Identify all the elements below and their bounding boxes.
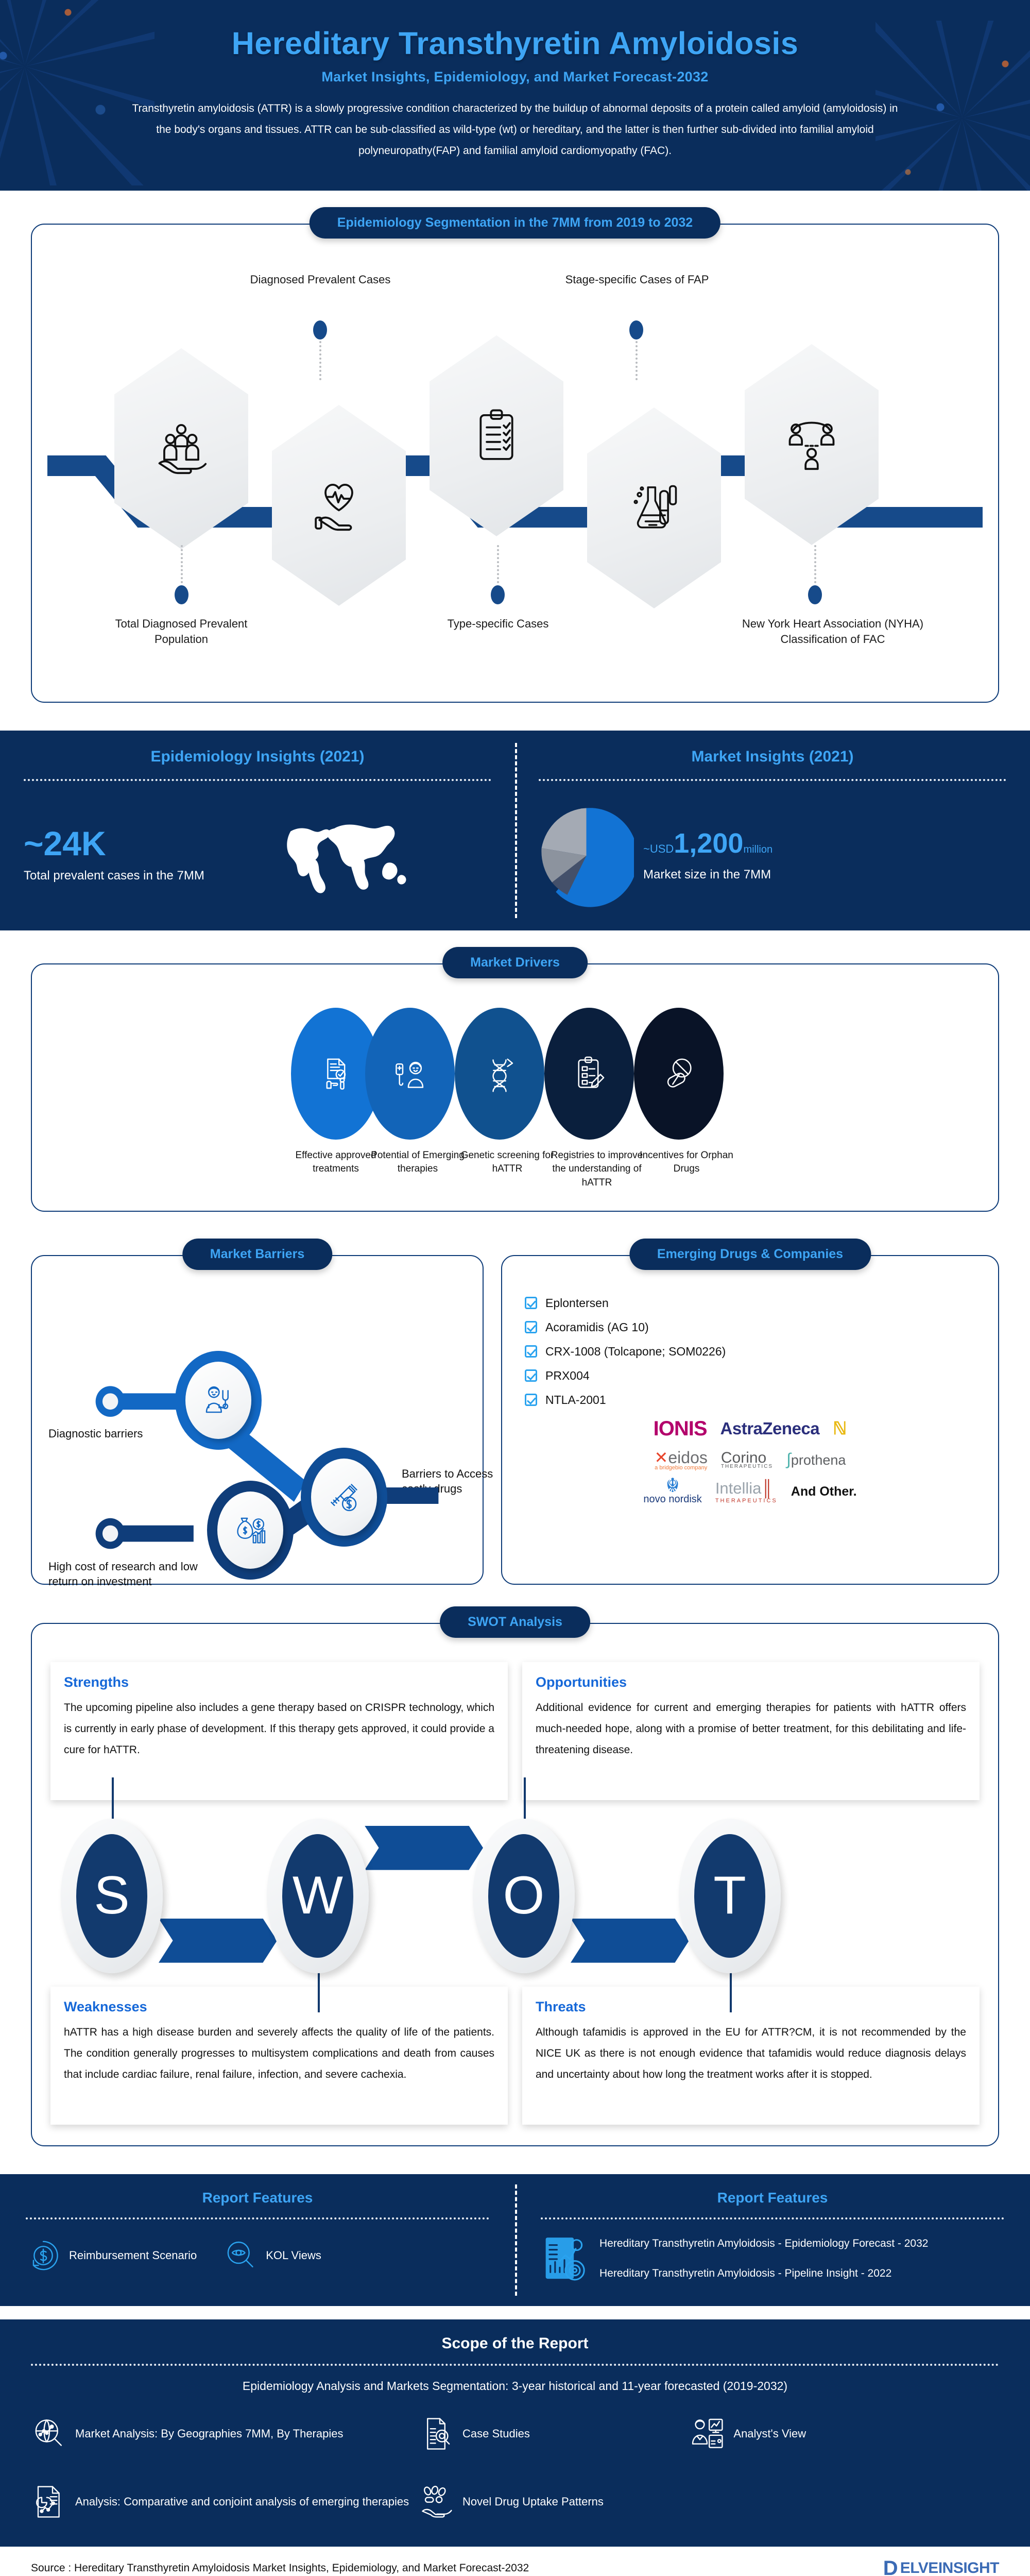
swot-card: SWOT Analysis Strengths The upcoming pip… — [31, 1623, 999, 2146]
epidemiology-segmentation-title: Epidemiology Segmentation in the 7MM fro… — [310, 207, 720, 239]
epidemiology-segmentation-card: Epidemiology Segmentation in the 7MM fro… — [31, 224, 999, 703]
epi-label-total-diagnosed-prevalent-population: Total Diagnosed Prevalent Population — [96, 616, 266, 647]
corino-tagline: THERAPEUTICS — [721, 1464, 773, 1469]
emerging-drugs-title: Emerging Drugs & Companies — [629, 1239, 871, 1270]
epi-dline-3 — [636, 341, 638, 380]
people-in-hand-icon — [151, 418, 212, 479]
patient-iv-drip-icon — [390, 1054, 430, 1094]
scope-title: Scope of the Report — [31, 2335, 999, 2366]
epidemiology-flow: Diagnosed Prevalent Cases Stage-specific… — [32, 225, 998, 702]
feature-label: KOL Views — [266, 2247, 321, 2264]
market-barriers-title: Market Barriers — [182, 1239, 332, 1270]
pie-chart-icon — [539, 804, 634, 907]
drug-name: Acoramidis (AG 10) — [545, 1320, 649, 1334]
eidos-name: eidos — [668, 1448, 708, 1467]
swot-weaknesses-text: hATTR has a high disease burden and seve… — [64, 2022, 494, 2086]
driver-label: Incentives for Orphan Drugs — [634, 1149, 739, 1176]
drug-name: NTLA-2001 — [545, 1393, 606, 1407]
people-network-icon — [781, 414, 842, 475]
barrier-node-diagnostic — [185, 1362, 251, 1439]
report-name: Hereditary Transthyretin Amyloidosis - P… — [599, 2265, 928, 2282]
page-subtitle: Market Insights, Epidemiology, and Marke… — [129, 69, 901, 85]
and-other-label: And Other. — [791, 1484, 857, 1499]
logo-eidos: ✕eidos — [655, 1448, 708, 1467]
swot-letter-t: T — [679, 1819, 781, 1973]
hero-description: Transthyretin amyloidosis (ATTR) is a sl… — [129, 98, 901, 162]
driver-incentives-orphan-drugs: Incentives for Orphan Drugs — [649, 1008, 739, 1176]
market-size-caption: Market size in the 7MM — [643, 866, 772, 884]
scope-label: Analysis: Comparative and conjoint analy… — [75, 2494, 409, 2510]
checkbox-icon — [525, 1345, 537, 1358]
market-insights-col: Market Insights (2021) ~USD1,200million … — [515, 731, 1030, 930]
barrier-node-high-cost — [217, 1492, 283, 1569]
feature-reimbursement-scenario: Reimbursement Scenario — [26, 2238, 197, 2273]
analyst-icon — [689, 2414, 725, 2454]
swot-strengths-text: The upcoming pipeline also includes a ge… — [64, 1698, 494, 1761]
swot-letter-o: O — [473, 1819, 575, 1973]
checkbox-icon — [525, 1369, 537, 1382]
swot-opportunities-heading: Opportunities — [536, 1674, 966, 1690]
market-insights-title: Market Insights (2021) — [539, 748, 1006, 781]
report-name: Hereditary Transthyretin Amyloidosis - E… — [599, 2235, 928, 2252]
epidemiology-insights-title: Epidemiology Insights (2021) — [24, 748, 491, 781]
dollar-refresh-icon — [26, 2238, 61, 2273]
scope-item-case-studies: Case Studies — [418, 2414, 689, 2454]
prevalent-cases-caption: Total prevalent cases in the 7MM — [24, 867, 204, 885]
emerging-drugs-card: Emerging Drugs & Companies Eplontersen A… — [501, 1255, 999, 1585]
market-drivers-title: Market Drivers — [442, 947, 588, 978]
epi-dot-0 — [175, 585, 188, 604]
list-item: Eplontersen — [525, 1296, 975, 1310]
scope-label: Novel Drug Uptake Patterns — [462, 2494, 604, 2510]
scope-label: Analyst's View — [733, 2426, 806, 2442]
epi-dot-1 — [313, 320, 327, 340]
market-drivers-section: Market Drivers Effective approved treatm… — [0, 930, 1030, 1217]
hero-banner: Hereditary Transthyretin Amyloidosis Mar… — [0, 0, 1030, 191]
logo-intellia: Intellia║ — [715, 1479, 778, 1498]
swot-opportunities-box: Opportunities Additional evidence for cu… — [522, 1662, 980, 1800]
epi-dot-3 — [629, 320, 643, 340]
swot-letter-value: S — [76, 1834, 147, 1958]
list-item: PRX004 — [525, 1369, 975, 1383]
logo-astrazeneca: AstraZeneca — [720, 1419, 820, 1438]
comparative-analysis-icon — [31, 2482, 67, 2522]
chevron-wo — [365, 1826, 483, 1870]
report-features-band: Report Features Reimbursement Scenario — [0, 2174, 1030, 2306]
report-features-right: Report Features Hereditary Transthyretin… — [515, 2174, 1030, 2306]
list-item: NTLA-2001 — [525, 1393, 975, 1407]
drug-name: CRX-1008 (Tolcapone; SOM0226) — [545, 1345, 726, 1359]
case-study-icon — [418, 2414, 454, 2454]
intellia-tagline: THERAPEUTICS — [715, 1498, 778, 1504]
page-title: Hereditary Transthyretin Amyloidosis — [129, 27, 901, 60]
prevalent-cases-value: ~24K — [24, 826, 204, 860]
swot-letter-value: W — [282, 1834, 353, 1958]
company-logos: IONIS AstraZeneca ℕ ✕eidos a bridgebio c… — [525, 1417, 975, 1505]
checkbox-icon — [525, 1321, 537, 1333]
brand-mark-icon: D — [883, 2558, 898, 2576]
connector-strengths — [112, 1777, 114, 1824]
scope-item-comparative-analysis: Analysis: Comparative and conjoint analy… — [31, 2482, 418, 2522]
intellia-mark-icon: ║ — [761, 1479, 772, 1497]
swot-letter-w: W — [267, 1819, 369, 1973]
epidemiology-segmentation-section: Epidemiology Segmentation in the 7MM fro… — [0, 191, 1030, 708]
prothena-name: prothena — [791, 1452, 846, 1468]
market-drivers-card: Market Drivers Effective approved treatm… — [31, 963, 999, 1212]
footer: Source : Hereditary Transthyretin Amyloi… — [0, 2547, 1030, 2576]
swot-threats-text: Although tafamidis is approved in the EU… — [536, 2022, 966, 2086]
swot-weaknesses-box: Weaknesses hATTR has a high disease burd… — [50, 1987, 508, 2125]
clipboard-pencil-icon — [569, 1054, 609, 1094]
swot-letter-value: O — [488, 1834, 559, 1958]
intellia-name: Intellia — [715, 1479, 762, 1497]
novo-name: novo nordisk — [643, 1494, 701, 1505]
eidos-mark-icon: ✕ — [655, 1448, 668, 1467]
report-features-left-title: Report Features — [26, 2190, 489, 2219]
scope-label: Market Analysis: By Geographies 7MM, By … — [75, 2426, 343, 2442]
eye-magnifier-icon — [222, 2238, 257, 2273]
list-item: Acoramidis (AG 10) — [525, 1320, 975, 1334]
swot-strengths-box: Strengths The upcoming pipeline also inc… — [50, 1662, 508, 1800]
epi-dline-2 — [497, 545, 499, 583]
checkbox-icon — [525, 1297, 537, 1309]
insights-band: Epidemiology Insights (2021) ~24K Total … — [0, 731, 1030, 930]
report-features-right-title: Report Features — [541, 2190, 1004, 2219]
epi-label-type-specific-cases: Type-specific Cases — [413, 616, 583, 632]
approved-document-icon — [316, 1054, 356, 1094]
feature-label: Reimbursement Scenario — [69, 2247, 197, 2264]
infographic-page: Hereditary Transthyretin Amyloidosis Mar… — [0, 0, 1030, 2576]
brand-name: ELVEINSIGHT — [900, 2560, 999, 2576]
bull-icon: ☬ — [643, 1478, 701, 1494]
syringe-dollar-icon — [325, 1479, 363, 1516]
barrier-node-access — [311, 1459, 377, 1536]
report-features-left: Report Features Reimbursement Scenario — [0, 2174, 515, 2306]
swot-opportunities-text: Additional evidence for current and emer… — [536, 1698, 966, 1761]
report-chart-icon — [541, 2233, 588, 2284]
logo-ionis: IONIS — [654, 1417, 707, 1440]
pills-icon — [659, 1054, 699, 1094]
chevron-ot — [571, 1919, 689, 1963]
checkbox-icon — [525, 1394, 537, 1406]
source-text: Source : Hereditary Transthyretin Amyloi… — [31, 2562, 529, 2574]
market-size-number: 1,200 — [674, 828, 743, 859]
swot-letter-value: T — [694, 1834, 765, 1958]
epi-dline-4 — [814, 545, 816, 583]
swot-threats-heading: Threats — [536, 1999, 966, 2015]
clipboard-checklist-icon — [466, 405, 527, 466]
scope-item-market-analysis: Market Analysis: By Geographies 7MM, By … — [31, 2414, 418, 2454]
drug-name: PRX004 — [545, 1369, 590, 1383]
epi-label-stage-specific-cases: Stage-specific Cases of FAP — [552, 272, 722, 287]
swot-strengths-heading: Strengths — [64, 1674, 494, 1690]
barriers-and-drugs-row: Market Barriers — [0, 1217, 1030, 1590]
epi-dot-2 — [491, 585, 505, 604]
eidos-tagline: a bridgebio company — [655, 1465, 708, 1471]
list-item: CRX-1008 (Tolcapone; SOM0226) — [525, 1345, 975, 1359]
logo-prothena: ∫prothena — [786, 1450, 846, 1469]
chevron-sw — [159, 1919, 277, 1963]
swot-letters-row: S W O T — [50, 1814, 980, 1984]
epi-label-diagnosed-prevalent-cases: Diagnosed Prevalent Cases — [235, 272, 405, 287]
epi-label-nyha-classification: New York Heart Association (NYHA) Classi… — [725, 616, 941, 647]
heart-in-hand-icon — [308, 475, 369, 536]
connector-opportunities — [524, 1777, 526, 1824]
scope-item-novel-drug-uptake: Novel Drug Uptake Patterns — [418, 2482, 689, 2522]
swot-title: SWOT Analysis — [440, 1606, 590, 1638]
logo-novo-nordisk: ☬ novo nordisk — [643, 1478, 701, 1505]
epi-dline-0 — [181, 545, 183, 583]
lab-flasks-icon — [624, 478, 684, 538]
astrazeneca-mark-icon: ℕ — [833, 1418, 847, 1439]
scope-subtitle: Epidemiology Analysis and Markets Segmen… — [31, 2366, 999, 2414]
swot-section: SWOT Analysis Strengths The upcoming pip… — [0, 1590, 1030, 2151]
market-size-prefix: ~USD — [643, 842, 674, 855]
dna-icon — [479, 1054, 520, 1094]
market-size-value: ~USD1,200million — [643, 827, 772, 859]
epidemiology-insights-col: Epidemiology Insights (2021) ~24K Total … — [0, 731, 515, 930]
feature-kol-views: KOL Views — [222, 2238, 321, 2273]
swot-letter-s: S — [61, 1819, 163, 1973]
drug-uptake-icon — [418, 2482, 454, 2522]
scope-item-analysts-view: Analyst's View — [689, 2414, 999, 2454]
money-bag-chart-icon — [232, 1512, 269, 1549]
swot-threats-box: Threats Although tafamidis is approved i… — [522, 1987, 980, 2125]
doctor-stethoscope-icon — [200, 1382, 237, 1419]
globe-analysis-icon — [31, 2414, 67, 2454]
market-size-unit: million — [743, 844, 772, 855]
scope-section: Scope of the Report Epidemiology Analysi… — [0, 2319, 1030, 2547]
swot-weaknesses-heading: Weaknesses — [64, 1999, 494, 2015]
scope-label: Case Studies — [462, 2426, 530, 2442]
delveinsight-logo: D ELVEINSIGHT — [883, 2558, 999, 2576]
prothena-mark-icon: ∫ — [786, 1450, 791, 1468]
market-barriers-card: Market Barriers — [31, 1255, 484, 1585]
world-map-icon — [218, 812, 491, 900]
epi-dline-1 — [319, 341, 321, 380]
epi-dot-4 — [808, 585, 822, 604]
drug-name: Eplontersen — [545, 1296, 609, 1310]
